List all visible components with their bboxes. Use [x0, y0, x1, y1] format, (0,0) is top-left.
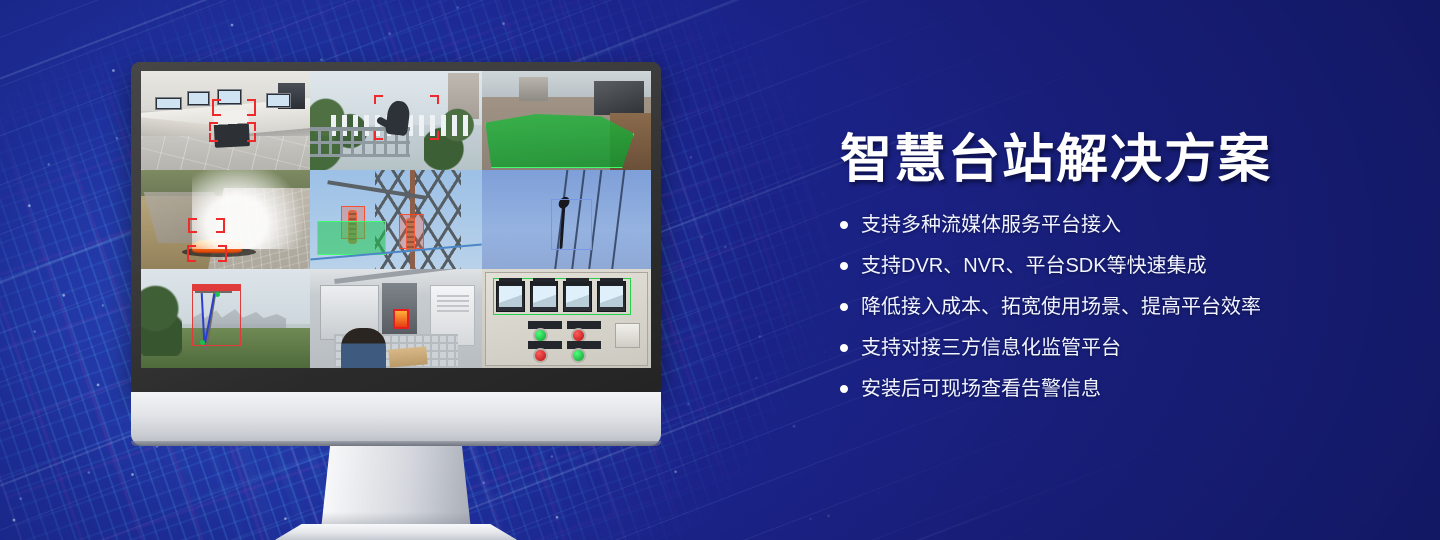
monitor-chin: [131, 392, 661, 446]
video-cell-rooftop-zone[interactable]: [482, 71, 651, 170]
video-wall-grid: [141, 71, 651, 368]
video-cell-foreign-object[interactable]: [482, 170, 651, 269]
cell8-worker: [341, 328, 386, 368]
monitor-screen: [141, 71, 651, 368]
bullet-dot-icon: [840, 221, 848, 229]
bullet-dot-icon: [840, 344, 848, 352]
cell9-lamp-label-2: [567, 321, 601, 329]
feature-list: 支持多种流媒体服务平台接入 支持DVR、NVR、平台SDK等快速集成 降低接入成…: [840, 215, 1400, 399]
monitor-bezel: [131, 62, 661, 392]
cell5-insulator-b: [406, 218, 415, 252]
list-item: 支持对接三方信息化监管平台: [840, 338, 1400, 358]
detection-box-fire-extinguisher: [393, 309, 409, 329]
feature-text: 降低接入成本、拓宽使用场景、提高平台效率: [861, 297, 1261, 317]
video-cell-control-panel[interactable]: [482, 269, 651, 368]
video-cell-transmission-tower[interactable]: [310, 170, 482, 269]
monitor-stand-base: [275, 524, 517, 540]
cell4-smoke: [192, 170, 304, 249]
cell9-lamp-label-1: [528, 321, 562, 329]
cell9-lamp-label-4: [567, 341, 601, 349]
list-item: 安装后可现场查看告警信息: [840, 379, 1400, 399]
cell9-auxiliary-device: [615, 323, 641, 349]
monitor-device: [131, 62, 661, 487]
list-item: 降低接入成本、拓宽使用场景、提高平台效率: [840, 297, 1400, 317]
monitor-stand-neck: [321, 446, 471, 530]
cell3-structure-a: [519, 77, 548, 101]
detection-box-foreign-object: [551, 199, 592, 250]
cell1-screen-d: [266, 93, 291, 108]
bullet-dot-icon: [840, 303, 848, 311]
cell1-screen-c: [217, 89, 242, 105]
list-item: 支持多种流媒体服务平台接入: [840, 215, 1400, 235]
feature-text: 安装后可现场查看告警信息: [861, 379, 1101, 399]
cell3-structure-b: [594, 81, 645, 115]
cell9-panel-face: [485, 272, 647, 366]
cell9-meter-3: [563, 281, 592, 311]
cell1-chair: [213, 109, 250, 147]
feature-text: 支持多种流媒体服务平台接入: [861, 215, 1121, 235]
cell9-meter-1: [496, 281, 525, 311]
video-cell-control-room[interactable]: [141, 71, 310, 170]
cell7-tree: [141, 277, 182, 356]
video-cell-grass-fire[interactable]: [141, 170, 310, 269]
list-item: 支持DVR、NVR、平台SDK等快速集成: [840, 256, 1400, 276]
cell8-carton: [388, 347, 427, 368]
cell9-meter-2: [530, 281, 559, 311]
cell9-lamp-label-3: [528, 341, 562, 349]
feature-text: 支持DVR、NVR、平台SDK等快速集成: [861, 256, 1207, 276]
bullet-dot-icon: [840, 262, 848, 270]
video-cell-pole-tilt[interactable]: [141, 269, 310, 368]
video-cell-fence-intrusion[interactable]: [310, 71, 482, 170]
text-content-column: 智慧台站解决方案 支持多种流媒体服务平台接入 支持DVR、NVR、平台SDK等快…: [840, 132, 1400, 420]
cell9-indicator-green-2: [571, 348, 586, 363]
bullet-dot-icon: [840, 385, 848, 393]
cell1-screen-a: [155, 97, 182, 110]
cell9-indicator-red-2: [533, 348, 548, 363]
cell9-meter-4: [597, 281, 626, 311]
cell1-screen-b: [187, 91, 211, 106]
page-title: 智慧台站解决方案: [840, 132, 1400, 189]
detection-zone-tower-green: [317, 221, 386, 255]
cell6-line-4: [610, 170, 627, 269]
video-cell-equipment-room[interactable]: [310, 269, 482, 368]
feature-text: 支持对接三方信息化监管平台: [861, 338, 1121, 358]
solution-banner: 智慧台站解决方案 支持多种流媒体服务平台接入 支持DVR、NVR、平台SDK等快…: [0, 0, 1440, 540]
